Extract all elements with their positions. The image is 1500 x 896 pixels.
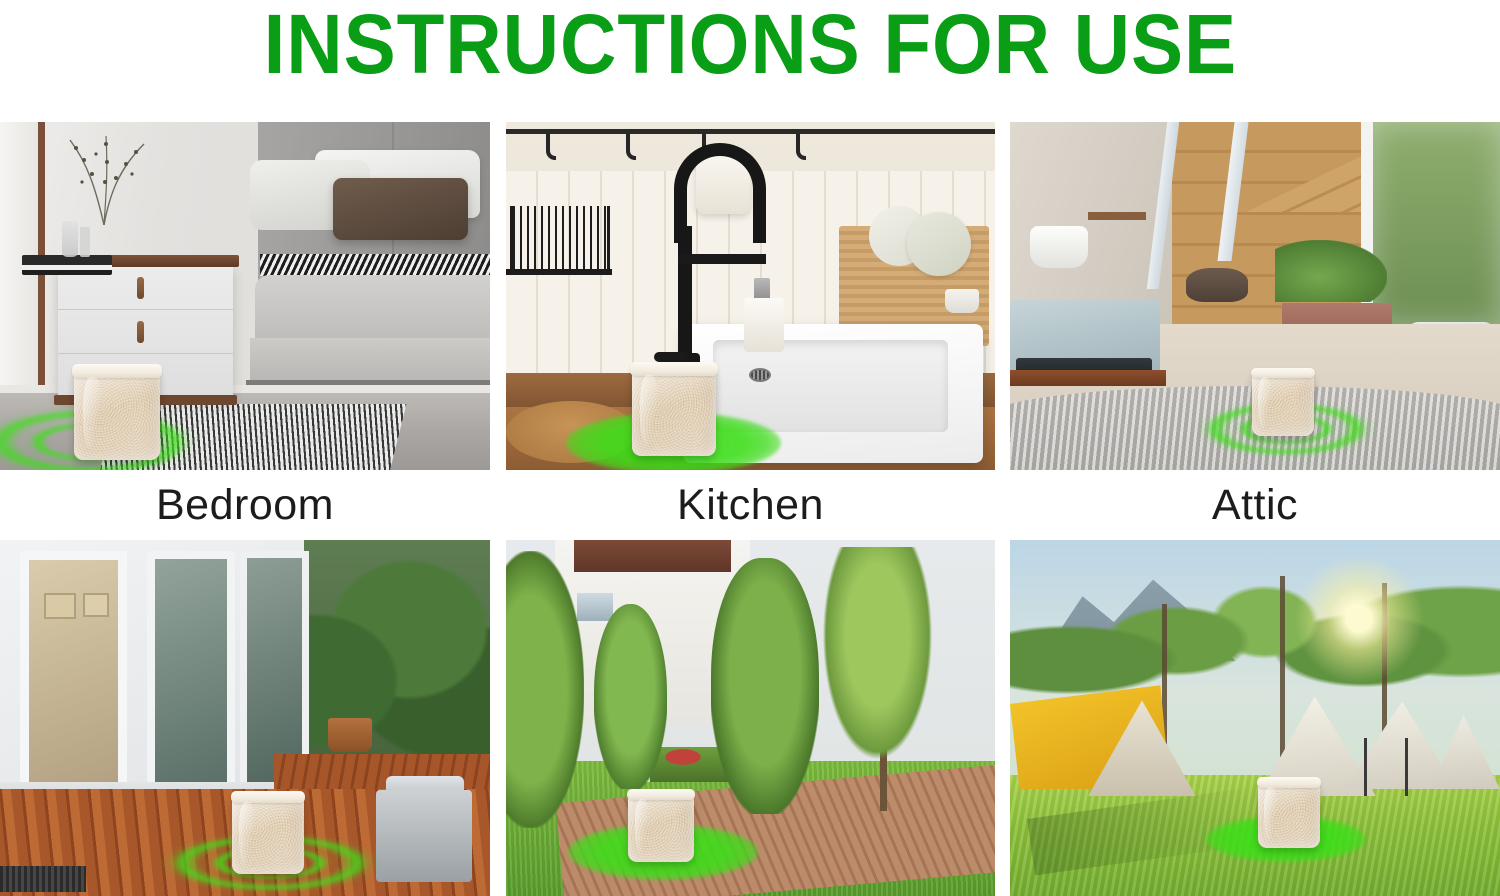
nightstand-handle-1 bbox=[137, 277, 144, 299]
product-bag-camping bbox=[1258, 782, 1320, 848]
patio-door-mat bbox=[0, 866, 86, 892]
kitchen-hook-4 bbox=[796, 134, 806, 160]
garden-topiary-3 bbox=[711, 558, 819, 814]
bedroom-pillow-brown bbox=[333, 178, 468, 240]
bag-body bbox=[632, 368, 716, 456]
sink-basin bbox=[713, 340, 948, 432]
garden-tree bbox=[819, 547, 936, 768]
panel-patio bbox=[0, 540, 490, 896]
scene-garden bbox=[506, 540, 995, 896]
product-bag-patio bbox=[232, 796, 304, 874]
kitchen-faucet-column bbox=[678, 226, 692, 372]
patio-sliding-door-2 bbox=[147, 551, 235, 814]
panel-labels: Bedroom Kitchen Attic bbox=[0, 470, 1500, 540]
bag-body bbox=[74, 370, 160, 460]
instructions-for-use-infographic: INSTRUCTIONS FOR USE bbox=[0, 0, 1500, 896]
product-bag-garden bbox=[628, 794, 694, 862]
panel-garden bbox=[506, 540, 995, 896]
nightstand-drawer-line-2 bbox=[58, 353, 233, 354]
panel-label-attic: Attic bbox=[1010, 470, 1500, 540]
grid-row-top bbox=[0, 122, 1500, 470]
bedroom-vase bbox=[62, 221, 78, 257]
product-bag-attic bbox=[1252, 372, 1314, 436]
camping-sun bbox=[1294, 554, 1424, 684]
kitchen-faucet-arm bbox=[678, 254, 766, 264]
attic-plant bbox=[1275, 240, 1387, 302]
kitchen-basket-shelf bbox=[506, 269, 612, 275]
bedroom-books bbox=[22, 255, 112, 275]
patio-wall-art-2 bbox=[83, 593, 109, 617]
scene-attic bbox=[1010, 122, 1500, 470]
scene-patio bbox=[0, 540, 490, 896]
bedroom-vase-small bbox=[80, 227, 90, 257]
patio-sliding-door-1 bbox=[20, 551, 128, 814]
product-bag-kitchen bbox=[632, 368, 716, 456]
scene-camping bbox=[1010, 540, 1500, 896]
panel-label-kitchen: Kitchen bbox=[506, 470, 995, 540]
kitchen-faucet-handle bbox=[654, 352, 688, 362]
page-title: INSTRUCTIONS FOR USE bbox=[263, 0, 1236, 86]
attic-garden-window bbox=[1373, 122, 1500, 324]
patio-wall-art-1 bbox=[44, 593, 76, 619]
attic-bed-frame bbox=[1010, 370, 1166, 386]
bag-body bbox=[628, 794, 694, 862]
scene-grid: Bedroom Kitchen Attic bbox=[0, 122, 1500, 896]
grid-row-bottom bbox=[0, 540, 1500, 896]
panel-label-bedroom: Bedroom bbox=[0, 470, 490, 540]
attic-floor-pouf bbox=[1186, 268, 1248, 302]
kitchen-soap-dispenser bbox=[744, 298, 784, 352]
kitchen-plate-1 bbox=[907, 212, 971, 276]
attic-shelf bbox=[1088, 212, 1146, 220]
camping-tripod bbox=[1364, 738, 1408, 796]
garden-roof bbox=[574, 540, 730, 572]
bag-body bbox=[1252, 372, 1314, 436]
patio-grill bbox=[376, 790, 472, 882]
kitchen-soap-pump bbox=[754, 278, 770, 300]
nightstand-drawer-line-1 bbox=[58, 309, 233, 310]
attic-bathtub bbox=[1030, 226, 1088, 268]
garden-topiary-2 bbox=[594, 604, 667, 789]
kitchen-hanging-rail bbox=[506, 129, 995, 134]
kitchen-hook-2 bbox=[626, 134, 636, 160]
bag-body bbox=[1258, 782, 1320, 848]
title-bar: INSTRUCTIONS FOR USE bbox=[0, 0, 1500, 112]
bag-body bbox=[232, 796, 304, 874]
bedroom-knit-blanket bbox=[260, 254, 490, 276]
scene-kitchen bbox=[506, 122, 995, 470]
panel-kitchen bbox=[506, 122, 995, 470]
product-bag-bedroom bbox=[74, 370, 160, 460]
kitchen-cup bbox=[945, 289, 979, 313]
panel-attic bbox=[1010, 122, 1500, 470]
patio-planter-pot bbox=[328, 718, 372, 752]
bedroom-dried-branch bbox=[48, 130, 158, 225]
panel-camping bbox=[1010, 540, 1500, 896]
panel-bedroom bbox=[0, 122, 490, 470]
nightstand-handle-2 bbox=[137, 321, 144, 343]
scene-bedroom bbox=[0, 122, 490, 470]
kitchen-hook-1 bbox=[546, 134, 556, 160]
kitchen-wire-basket bbox=[510, 206, 610, 272]
